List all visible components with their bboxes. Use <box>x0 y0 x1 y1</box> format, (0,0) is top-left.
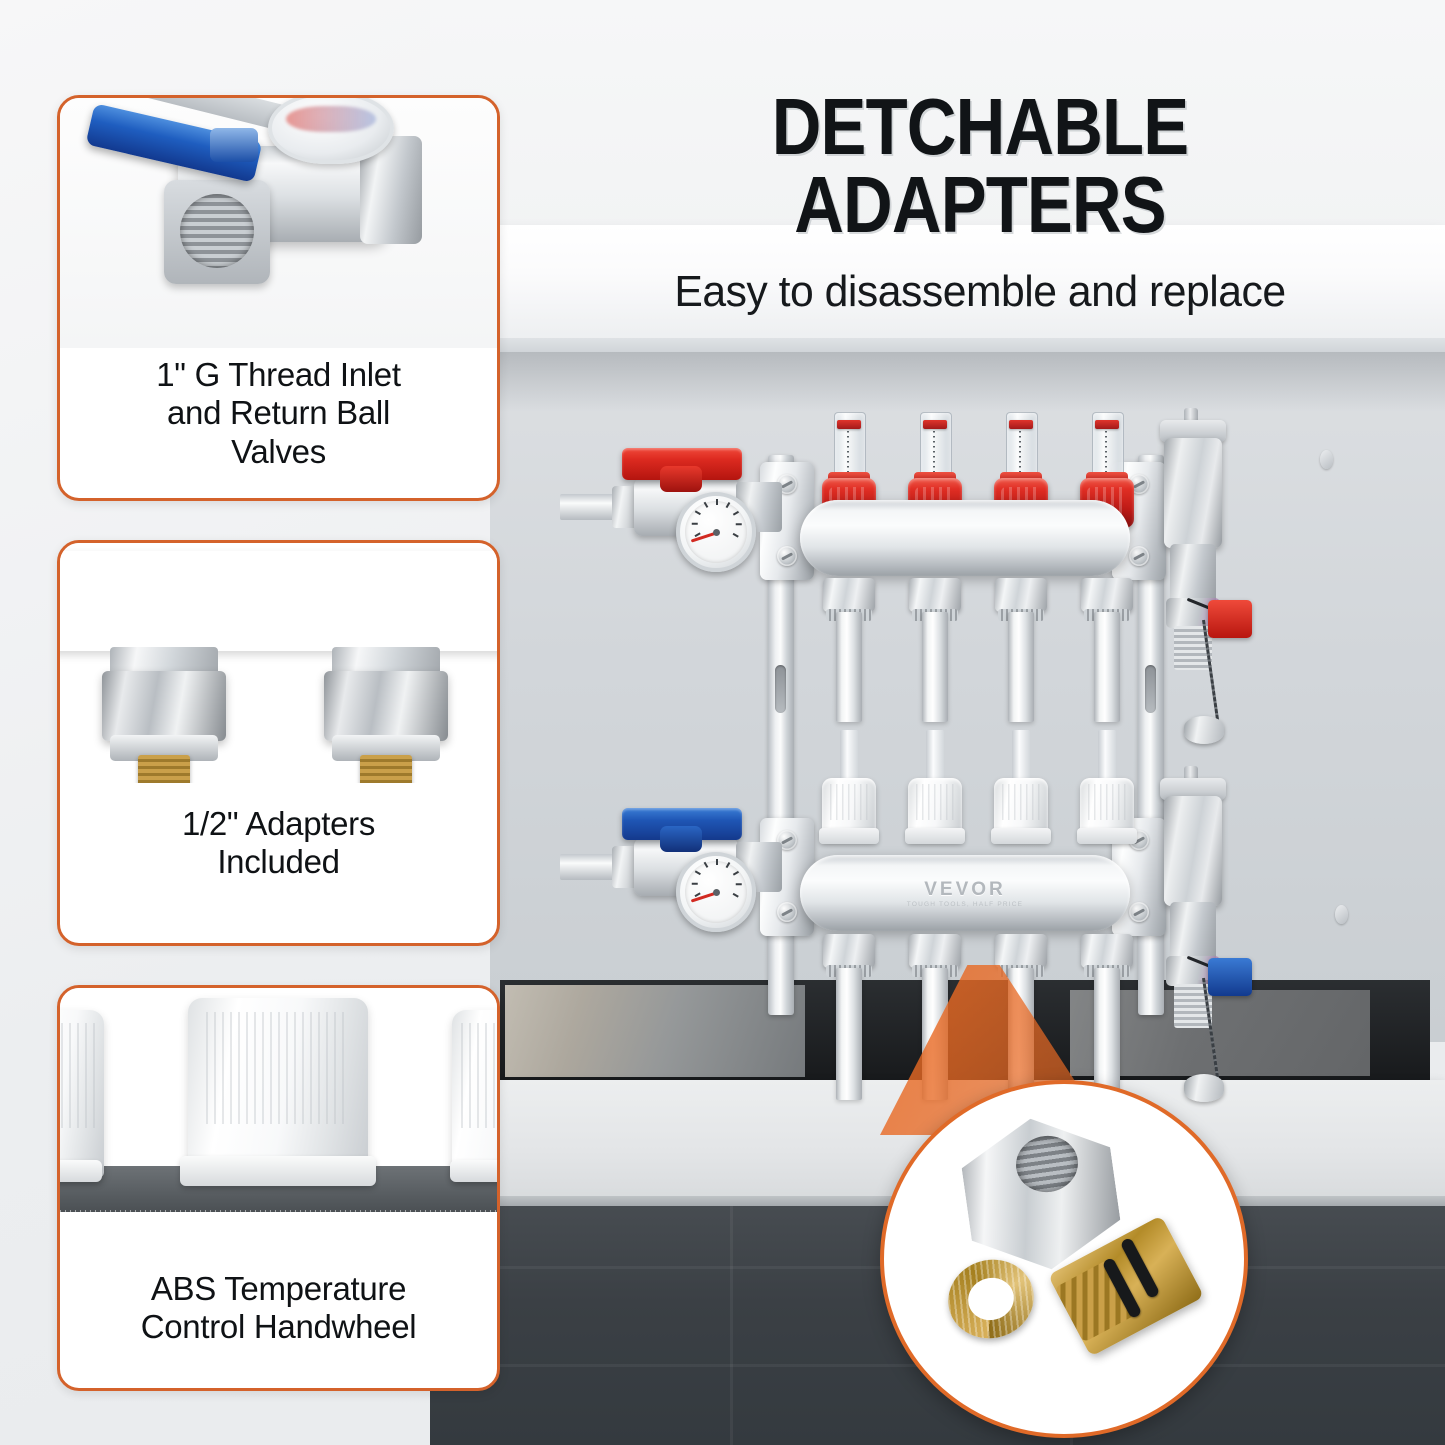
feature-caption: 1/2" Adapters Included <box>60 805 497 882</box>
supply-ball-valve[interactable] <box>560 448 810 573</box>
compression-nut <box>995 578 1047 612</box>
drop-pipe <box>836 968 862 1100</box>
riser-pipe <box>836 612 862 722</box>
return-ball-valve[interactable] <box>560 808 810 933</box>
compression-nut <box>823 934 875 968</box>
supply-manifold-bar <box>800 500 1130 576</box>
compression-nut <box>1081 934 1133 968</box>
drain-cap <box>1184 716 1224 744</box>
adapter-magnifier <box>880 1080 1248 1438</box>
headline-block: DETCHABLE ADAPTERS Easy to disassemble a… <box>560 88 1400 317</box>
compression-nut <box>909 934 961 968</box>
page-title: DETCHABLE ADAPTERS <box>619 88 1341 245</box>
feature-panel-ball-valves: 1" G Thread Inlet and Return Ball Valves <box>57 95 500 501</box>
niche-screw-icon <box>1320 450 1333 469</box>
handwheel-partial-right <box>452 1010 497 1178</box>
infographic-canvas: VEVOR TOUGH TOOLS, HALF PRICE <box>0 0 1445 1445</box>
drain-cap <box>1184 1074 1224 1102</box>
brass-thread-tip <box>360 755 412 783</box>
feature-caption: ABS Temperature Control Handwheel <box>60 1270 497 1347</box>
vevor-tagline: TOUGH TOOLS, HALF PRICE <box>800 901 1130 908</box>
half-inch-adapters-photo <box>60 543 497 783</box>
feature-caption: 1" G Thread Inlet and Return Ball Valves <box>60 356 497 471</box>
compression-nut <box>823 578 875 612</box>
handwheel-4[interactable] <box>1076 778 1138 848</box>
vevor-brand-logo: VEVOR <box>800 879 1130 901</box>
riser-pipe <box>922 612 948 722</box>
handwheel-center <box>188 998 368 1178</box>
bottom-air-vent <box>1152 766 1272 1066</box>
feature-panel-adapters: 1/2" Adapters Included <box>57 540 500 946</box>
handwheel-partial-left <box>60 1010 104 1178</box>
handwheel-3[interactable] <box>990 778 1052 848</box>
riser-pipe <box>1008 612 1034 722</box>
drop-pipe <box>1094 968 1120 1100</box>
compression-nut <box>995 934 1047 968</box>
niche-screw-icon <box>1335 905 1348 924</box>
supply-temperature-gauge <box>676 492 756 572</box>
brass-split-ring <box>939 1250 1043 1349</box>
handwheel-2[interactable] <box>904 778 966 848</box>
brass-thread-tip <box>138 755 190 783</box>
handwheel-1[interactable] <box>818 778 880 848</box>
drain-valve-blue[interactable] <box>1208 958 1252 996</box>
return-manifold-bar: VEVOR TOUGH TOOLS, HALF PRICE <box>800 855 1130 931</box>
compression-nut <box>909 578 961 612</box>
return-temperature-gauge <box>676 852 756 932</box>
feature-panel-handwheel: ABS Temperature Control Handwheel <box>57 985 500 1391</box>
compression-nut <box>1081 578 1133 612</box>
inline-gauge <box>268 98 394 164</box>
top-air-vent <box>1152 408 1272 708</box>
riser-pipe <box>1094 612 1120 722</box>
drain-valve-red[interactable] <box>1208 600 1252 638</box>
blue-handle-ball-valve-photo <box>60 98 497 348</box>
manifold-bar-closeup <box>60 551 497 651</box>
abs-handwheel-photo <box>60 988 497 1260</box>
page-subtitle: Easy to disassemble and replace <box>573 267 1388 317</box>
